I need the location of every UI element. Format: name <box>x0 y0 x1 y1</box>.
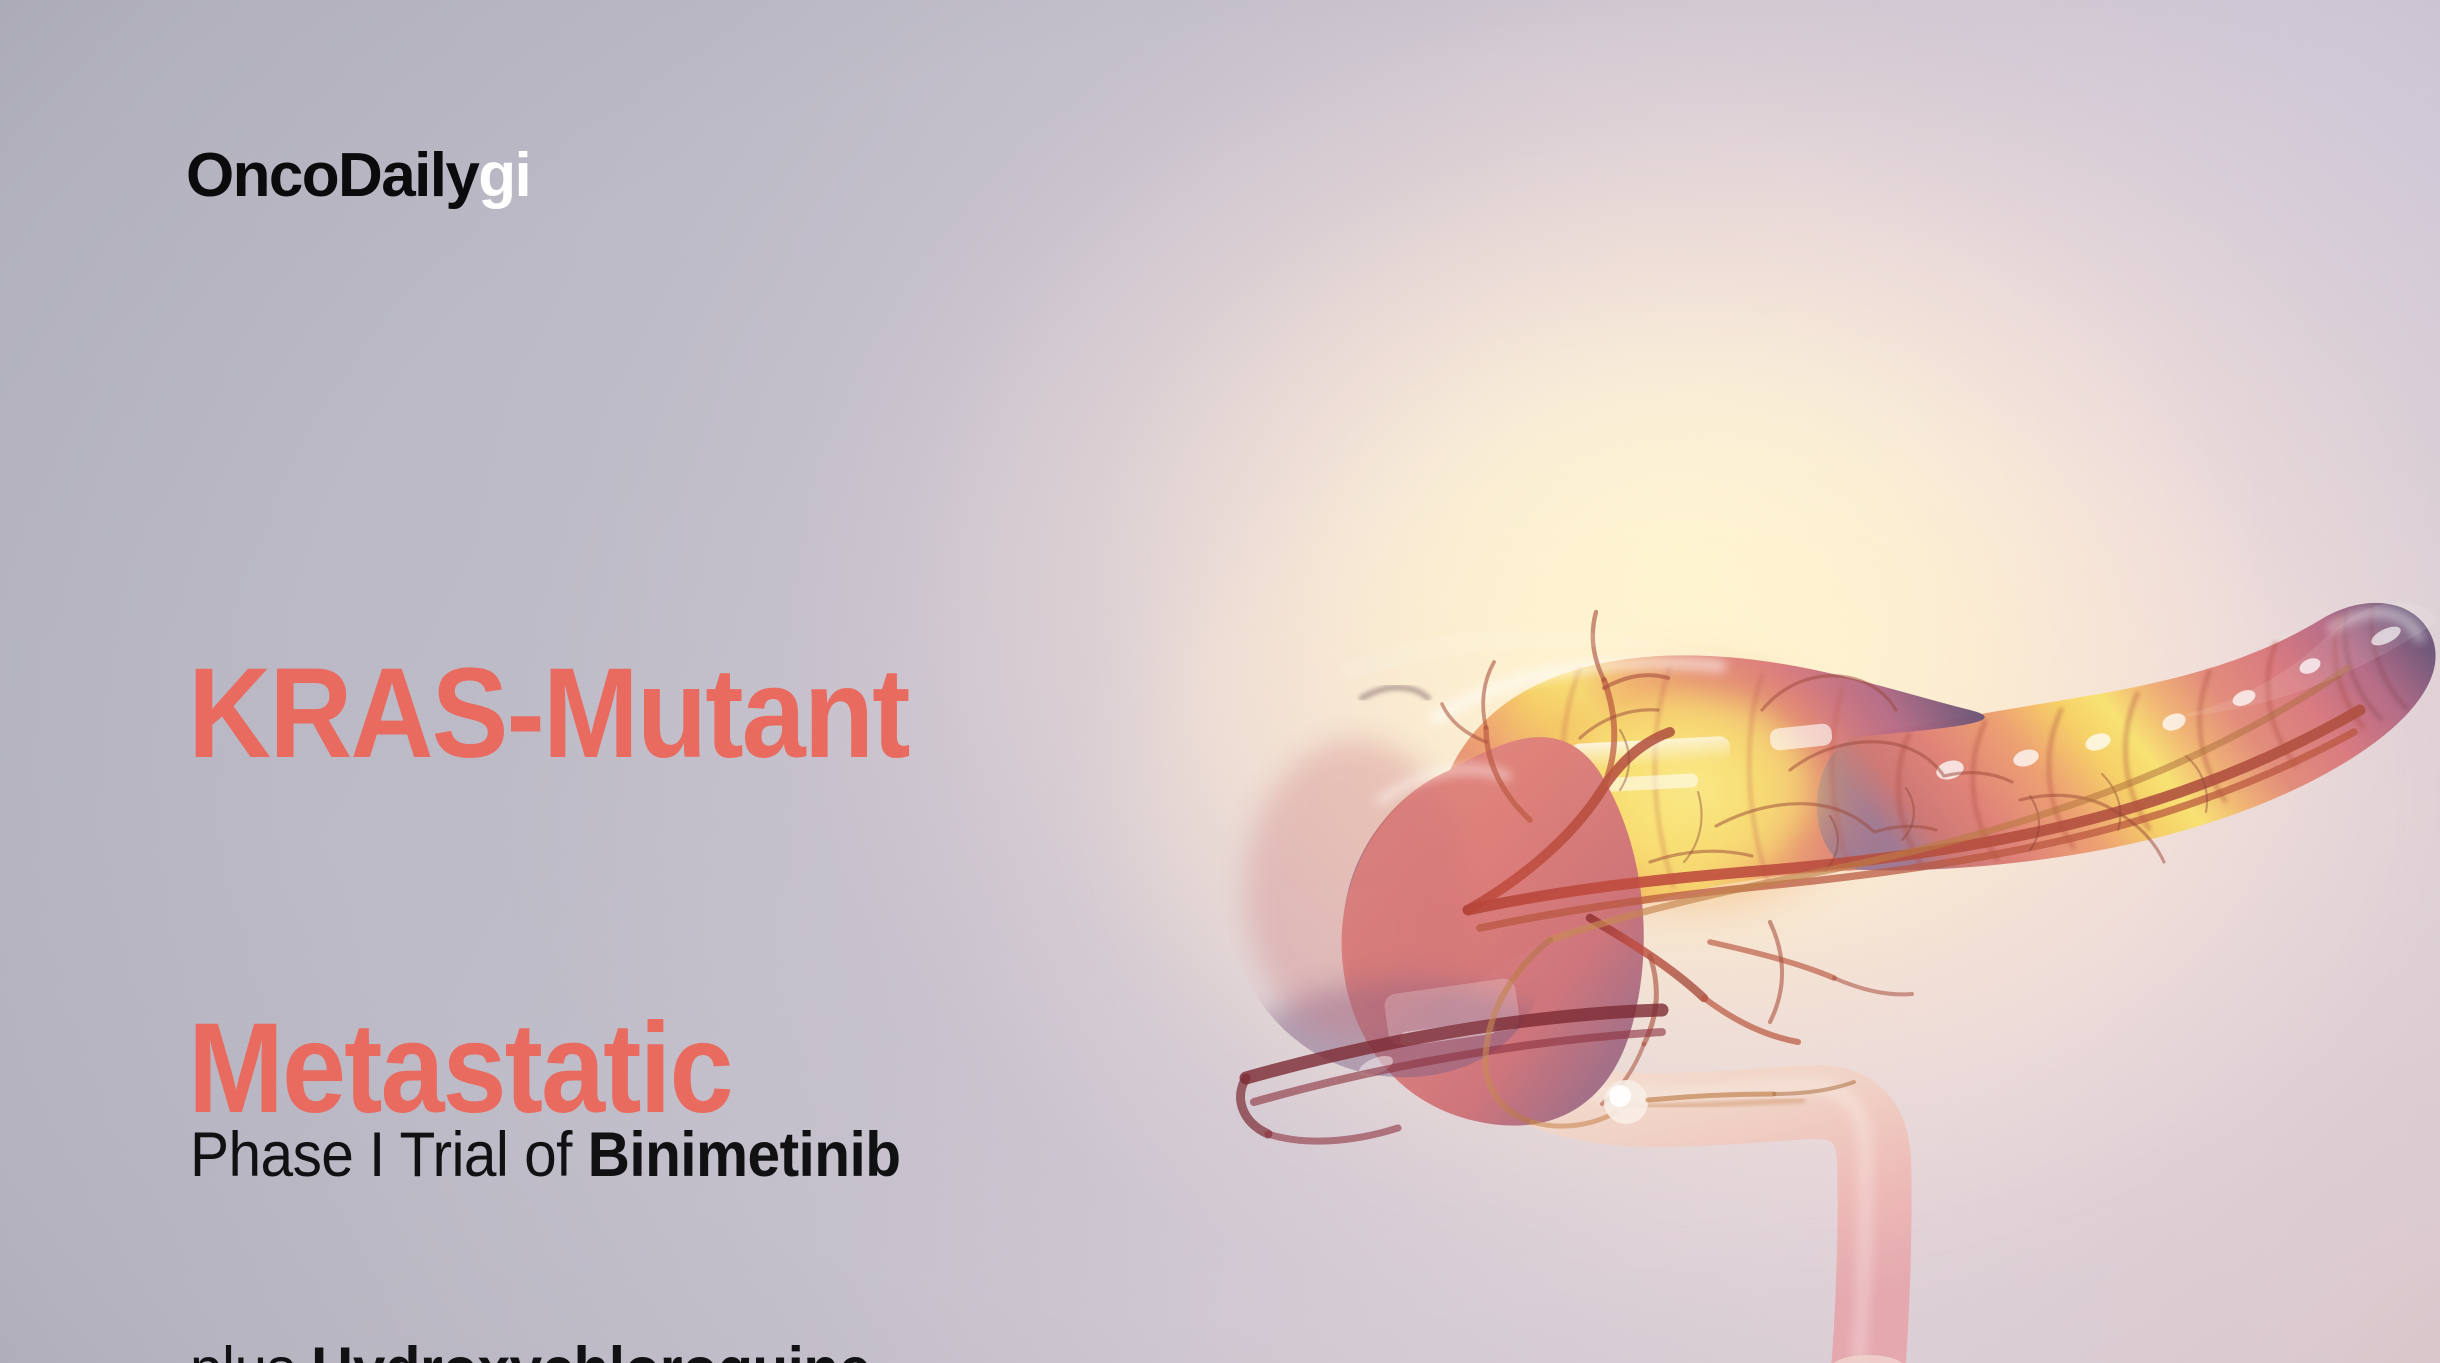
page-subtitle: Phase I Trial of Binimetinib plus Hydrox… <box>190 976 900 1363</box>
subtitle-line-2-regular: plus <box>190 1335 311 1363</box>
subtitle-line-1-regular: Phase I Trial of <box>190 1120 588 1190</box>
headline-line-1: KRAS-Mutant <box>188 655 909 773</box>
subtitle-line-1-bold: Binimetinib <box>588 1120 901 1190</box>
brand-logo-secondary: gi <box>478 141 530 210</box>
pancreas-svg <box>1150 470 2440 1210</box>
subtitle-line-2-bold: Hydroxychloroquine <box>311 1335 871 1363</box>
subtitle-line-1: Phase I Trial of Binimetinib <box>190 1120 900 1192</box>
pancreas-illustration <box>1150 470 2440 1210</box>
brand-logo[interactable]: OncoDailygi <box>186 145 530 207</box>
brand-logo-primary: OncoDaily <box>186 141 478 210</box>
subtitle-line-2: plus Hydroxychloroquine <box>190 1335 900 1363</box>
poster-canvas: OncoDailygi KRAS-Mutant Metastatic PDAC … <box>0 0 2440 1363</box>
